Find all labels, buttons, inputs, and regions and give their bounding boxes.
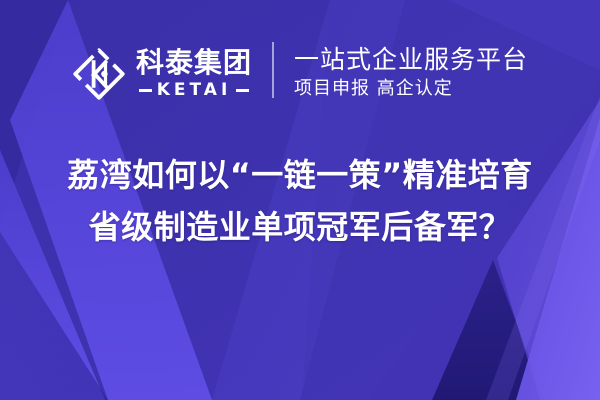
header-vertical-divider — [272, 42, 274, 98]
logo-dash-right-icon — [236, 89, 249, 92]
logo-en-row: KETAI — [136, 82, 252, 99]
tagline-block: 一站式企业服务平台 项目申报 高企认定 — [294, 45, 528, 102]
brand-logo[interactable]: 科泰集团 KETAI — [72, 47, 252, 101]
ketai-diamond-k-mark-icon — [72, 47, 126, 101]
tagline-primary: 一站式企业服务平台 — [294, 45, 528, 75]
headline: 荔湾如何以“一链一策”精准培育 省级制造业单项冠军后备军？ — [0, 150, 600, 254]
logo-company-name-en: KETAI — [157, 82, 232, 99]
header-bar: 科泰集团 KETAI 一站式企业服务平台 项目申报 高企认定 — [0, 0, 600, 140]
logo-wordmark: 科泰集团 KETAI — [136, 49, 252, 99]
promotional-banner: 科泰集团 KETAI 一站式企业服务平台 项目申报 高企认定 荔湾如何以“一链一… — [0, 0, 600, 400]
logo-dash-left-icon — [139, 89, 152, 92]
headline-line-1: 荔湾如何以“一链一策”精准培育 — [28, 150, 572, 202]
logo-company-name-cn: 科泰集团 — [136, 49, 252, 77]
tagline-secondary: 项目申报 高企认定 — [294, 77, 528, 101]
headline-line-2: 省级制造业单项冠军后备军？ — [28, 202, 572, 254]
